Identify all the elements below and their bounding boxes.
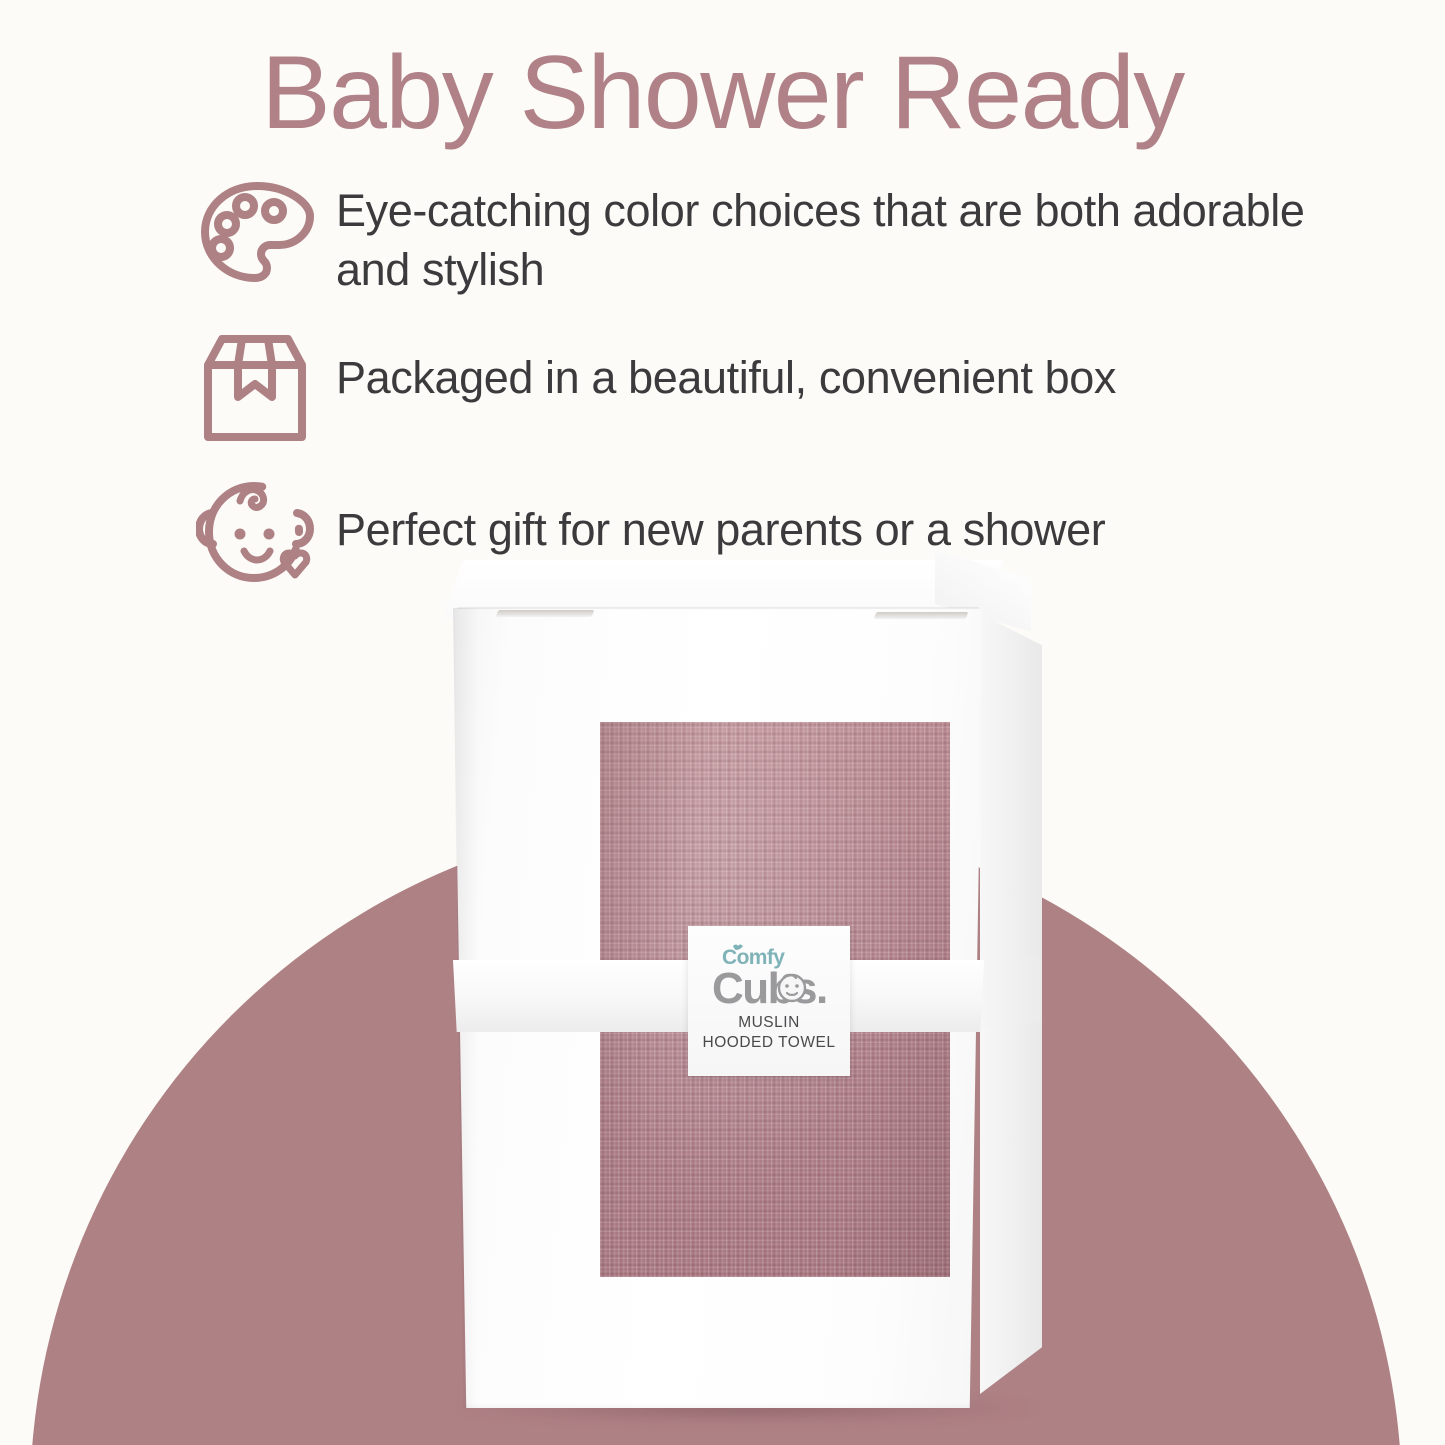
palette-icon xyxy=(196,176,336,288)
feature-list: Eye-catching color choices that are both… xyxy=(196,176,1316,609)
box-flap-slot-left xyxy=(496,610,595,617)
feature-item-label: Packaged in a beautiful, convenient box xyxy=(336,321,1116,408)
feature-item-label: Perfect gift for new parents or a shower xyxy=(336,471,1105,560)
product-gift-box: Comfy Cubs. MUSLIN HOODED TOWEL xyxy=(435,560,1055,1410)
box-icon xyxy=(196,321,336,445)
page-title: Baby Shower Ready xyxy=(0,38,1445,148)
product-label-line-1: MUSLIN xyxy=(703,1013,836,1033)
product-marketing-image: Baby Shower Ready Eye-catching color cho… xyxy=(0,0,1445,1445)
comfy-cubs-logo: Comfy Cubs. xyxy=(696,941,842,1009)
feature-item-packaging: Packaged in a beautiful, convenient box xyxy=(196,321,1316,445)
product-label-line-2: HOODED TOWEL xyxy=(703,1033,836,1053)
svg-text:Cubs.: Cubs. xyxy=(712,964,827,1009)
baby-face-icon xyxy=(196,471,336,593)
box-flap-seam xyxy=(457,607,979,609)
feature-item-color-choices: Eye-catching color choices that are both… xyxy=(196,176,1316,299)
feature-item-label: Eye-catching color choices that are both… xyxy=(336,176,1316,299)
belly-band-side xyxy=(980,956,1042,1028)
box-flap-slot-right xyxy=(874,612,969,619)
product-label-card: Comfy Cubs. MUSLIN HOODED TOWEL xyxy=(688,926,850,1076)
product-label-subtitle: MUSLIN HOODED TOWEL xyxy=(703,1013,836,1053)
